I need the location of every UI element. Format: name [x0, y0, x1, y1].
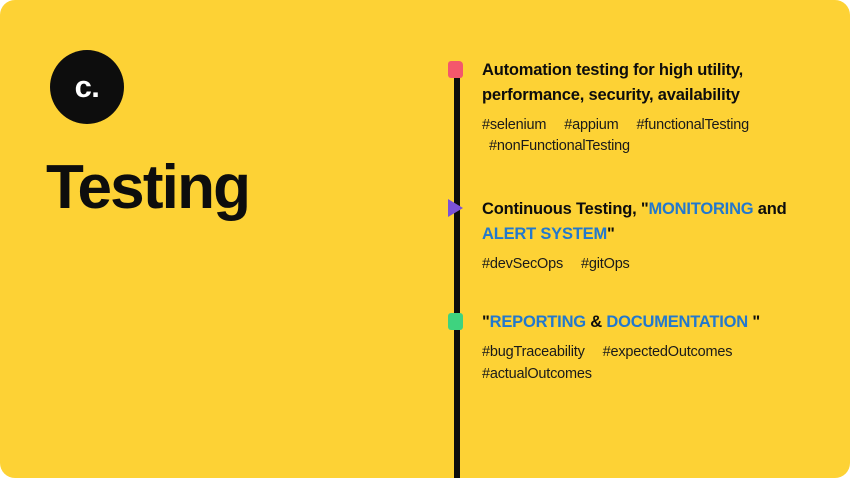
entry-body: Automation testing for high utility, per… [482, 58, 832, 158]
entry-tags: #bugTraceability#expectedOutcomes #actua… [482, 342, 832, 386]
entry-heading-line-2: performance, security, availability [482, 86, 740, 104]
entry-heading: "REPORTING & DOCUMENTATION " [482, 310, 832, 335]
entry-heading-accent-2: ALERT SYSTEM [482, 225, 607, 243]
entry-heading-accent-2: DOCUMENTATION [606, 313, 748, 331]
entry-heading-accent-1: MONITORING [648, 200, 753, 218]
tag-item: #bugTraceability [482, 344, 585, 360]
tag-item: #devSecOps [482, 256, 563, 272]
entry-heading-prefix: Continuous Testing, " [482, 200, 648, 218]
entry-heading-prefix: " [482, 313, 490, 331]
tag-item: #nonFunctionalTesting [489, 138, 630, 154]
entry-heading-suffix: " [607, 225, 615, 243]
tag-item: #selenium [482, 117, 546, 133]
tag-item: #expectedOutcomes [603, 344, 733, 360]
entry-heading-mid: & [586, 313, 606, 331]
entry-heading-mid: and [753, 200, 786, 218]
tag-item: #appium [564, 117, 618, 133]
tag-item: #actualOutcomes [482, 366, 592, 382]
brand-logo-badge: c. [50, 50, 124, 124]
tag-item: #gitOps [581, 256, 630, 272]
entry-heading: Continuous Testing, "MONITORING and ALER… [482, 197, 832, 247]
entry-tags-row: #devSecOps#gitOps [482, 254, 832, 276]
right-column: Automation testing for high utility, per… [440, 0, 850, 478]
brand-logo-text: c. [75, 71, 100, 102]
green-square-marker-icon [448, 313, 463, 330]
entry-heading-accent-1: REPORTING [490, 313, 586, 331]
entry-tags-row: #selenium#appium#functionalTesting [482, 115, 832, 137]
entry-tags: #selenium#appium#functionalTesting #nonF… [482, 115, 832, 159]
slide-canvas: c. Testing Automation testing for high u… [0, 0, 850, 478]
entry-heading-suffix: " [748, 313, 760, 331]
page-title: Testing [46, 155, 249, 220]
entry-heading: Automation testing for high utility, per… [482, 58, 832, 108]
entry-tags-row: #bugTraceability#expectedOutcomes [482, 342, 832, 364]
entry-heading-line-1: Automation testing for high utility, [482, 61, 743, 79]
tag-item: #functionalTesting [637, 117, 749, 133]
entry-body: Continuous Testing, "MONITORING and ALER… [482, 197, 832, 275]
left-column: c. Testing [0, 0, 440, 478]
pink-square-marker-icon [448, 61, 463, 78]
entry-tags-row: #actualOutcomes [482, 364, 832, 386]
entry-tags: #devSecOps#gitOps [482, 254, 832, 276]
entry-body: "REPORTING & DOCUMENTATION " #bugTraceab… [482, 310, 832, 385]
purple-triangle-marker-icon [448, 199, 463, 217]
entry-tags-row: #nonFunctionalTesting [482, 136, 832, 158]
